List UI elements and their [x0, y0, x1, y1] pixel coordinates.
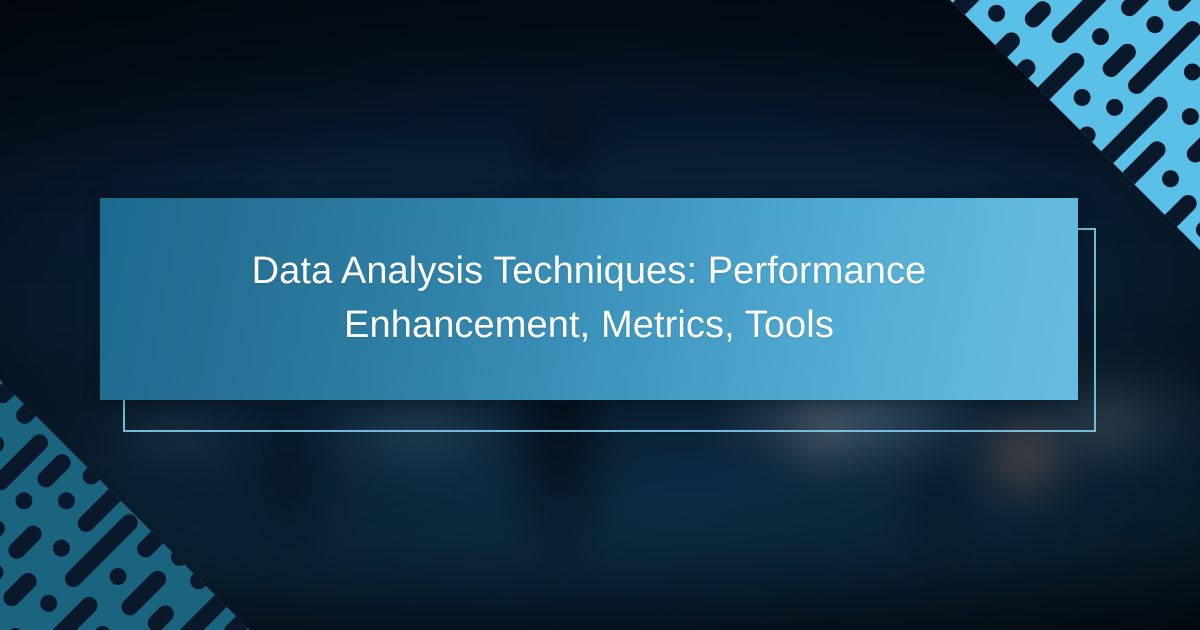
title-card: Data Analysis Techniques: Performance En…	[100, 198, 1078, 400]
page-title: Data Analysis Techniques: Performance En…	[145, 245, 1033, 353]
banner-canvas: Data Analysis Techniques: Performance En…	[0, 0, 1200, 630]
